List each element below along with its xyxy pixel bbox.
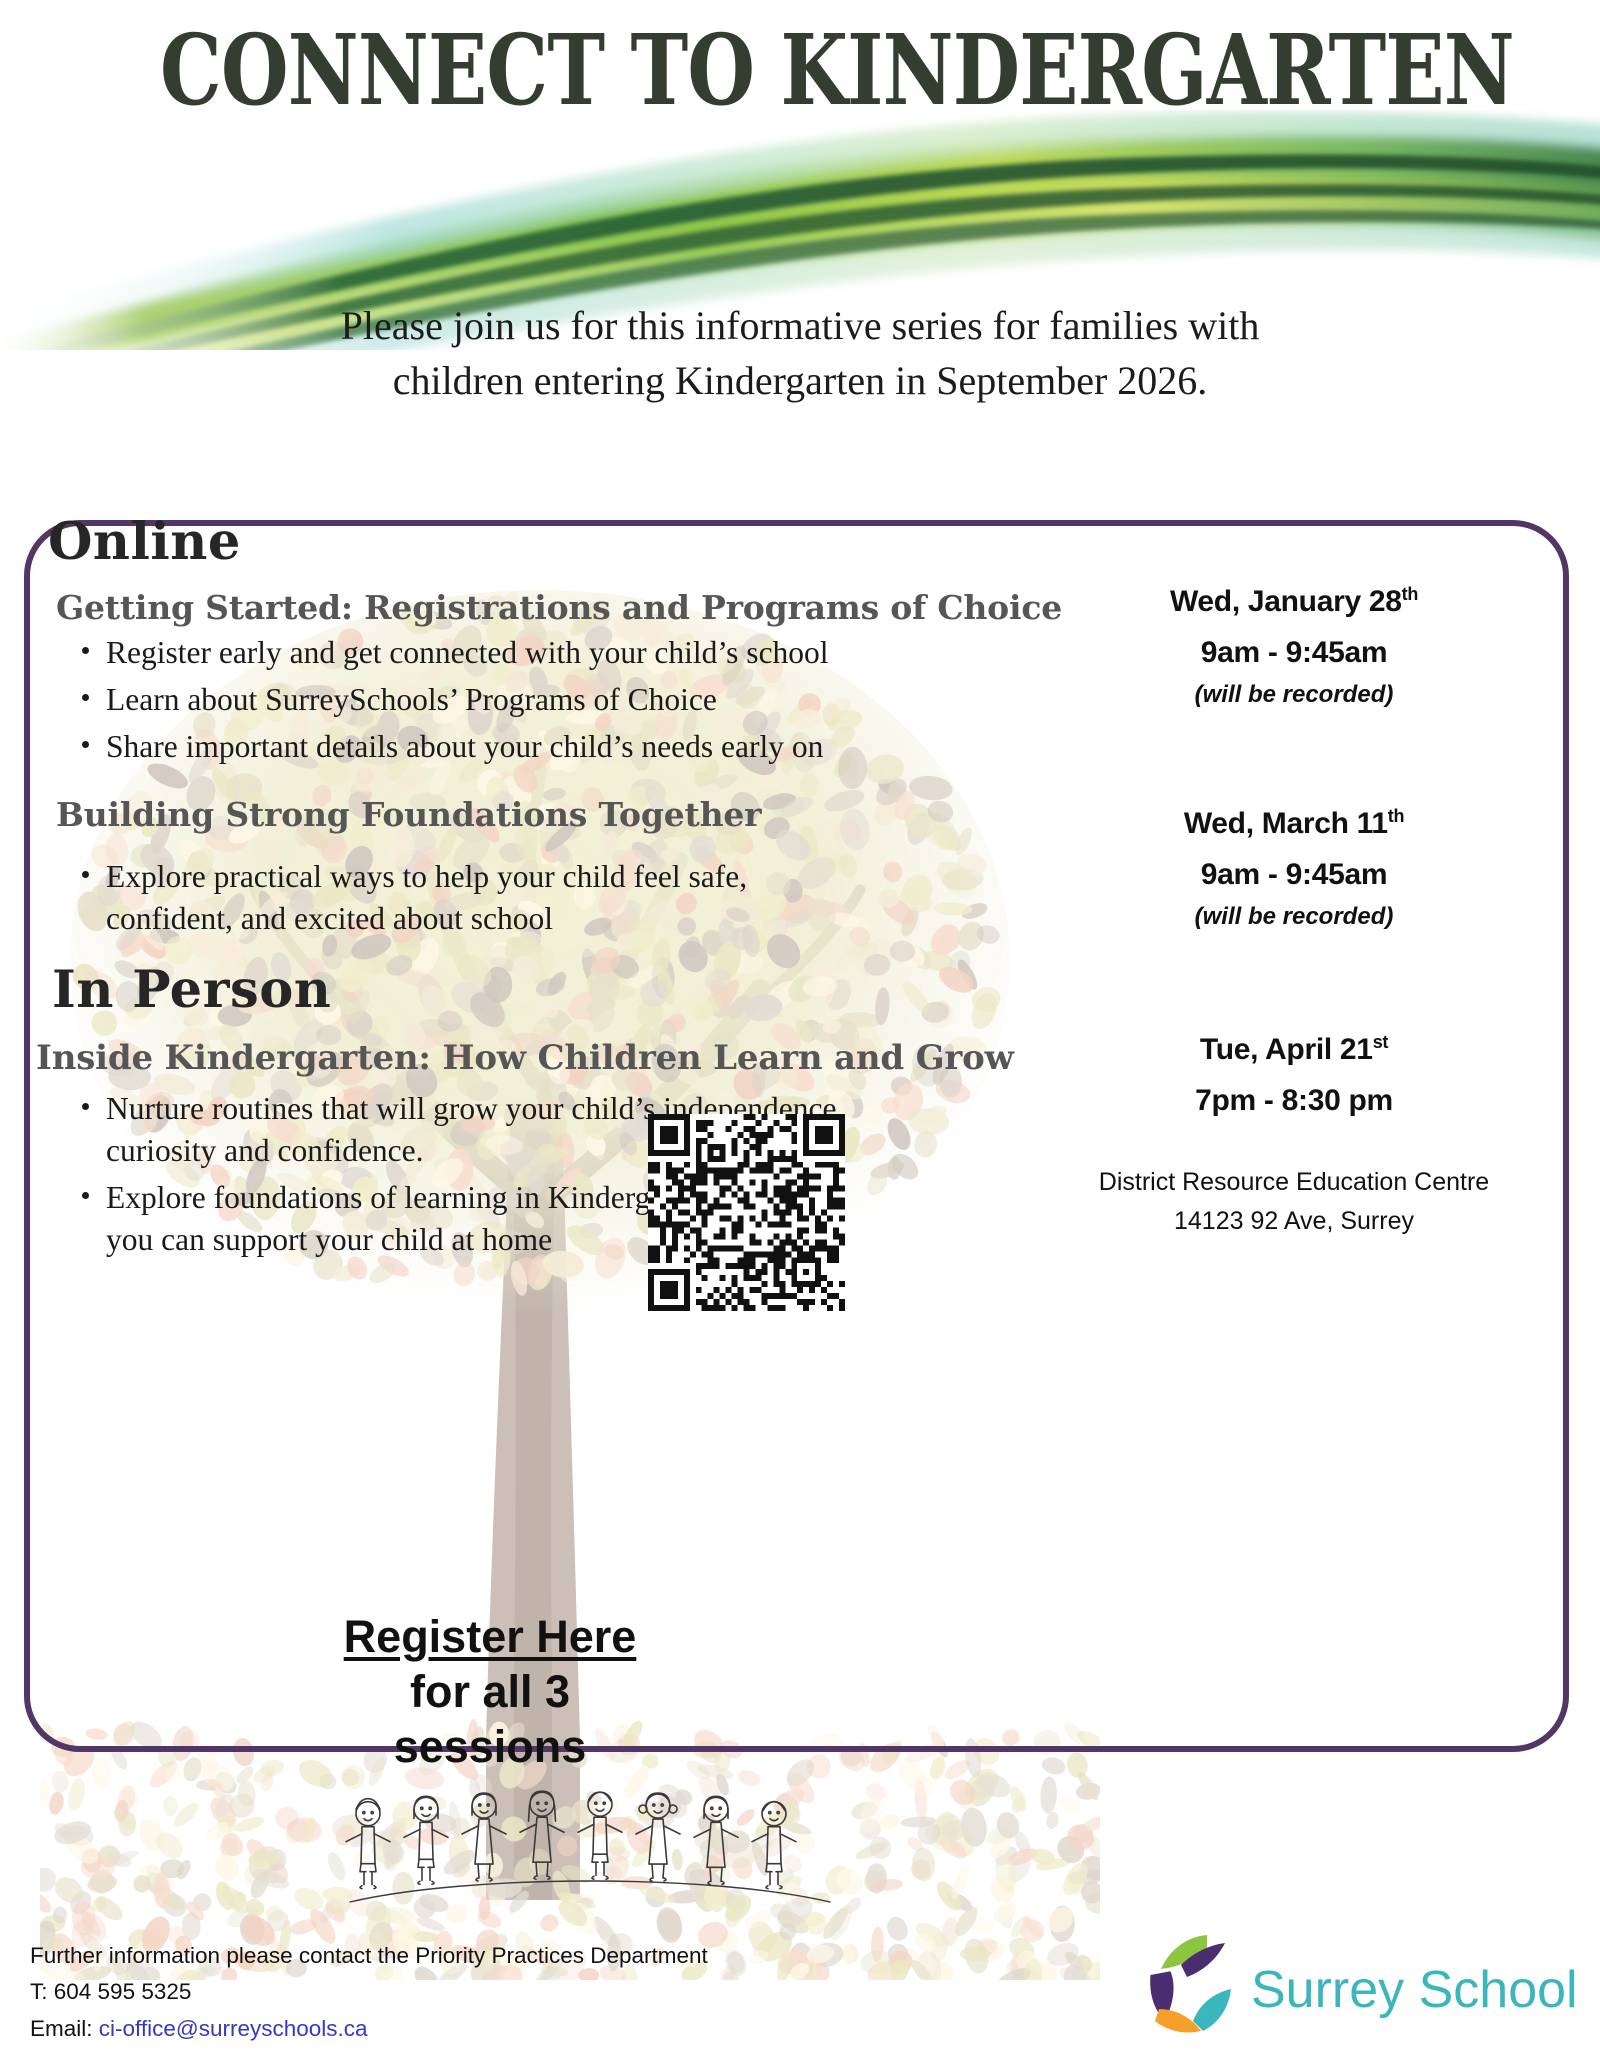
footer-email-label: Email:: [30, 2016, 93, 2041]
mode-heading-online: Online: [48, 512, 241, 572]
page-title: CONNECT TO KINDERGARTEN: [160, 22, 1440, 119]
register-here-link[interactable]: Register Here: [330, 1610, 650, 1665]
subtitle-line-1: Please join us for this informative seri…: [160, 298, 1440, 353]
session-1-bullets: Register early and get connected with yo…: [72, 632, 862, 773]
subtitle-line-2: children entering Kindergarten in Septem…: [160, 353, 1440, 408]
session-2-note: (will be recorded): [1084, 903, 1504, 931]
session-3-heading: Inside Kindergarten: How Children Learn …: [36, 1038, 1014, 1078]
session-1-heading: Getting Started: Registrations and Progr…: [56, 588, 1062, 627]
session-2-heading: Building Strong Foundations Together: [56, 795, 761, 834]
register-line-3: sessions: [330, 1720, 650, 1775]
footer-line-1: Further information please contact the P…: [30, 1938, 708, 1974]
children-holding-hands-illustration: [330, 1770, 850, 1915]
footer-email-row: Email: ci-office@surreyschools.ca: [30, 2011, 708, 2047]
surrey-schools-logo: Surrey Schools: [1145, 1925, 1575, 2045]
logo-pinwheel-icon: [1145, 1935, 1231, 2033]
list-item: Explore practical ways to help your chil…: [72, 856, 752, 940]
qr-code-icon[interactable]: [648, 1114, 845, 1311]
session-1-time: 9am - 9:45am: [1084, 636, 1504, 670]
session-3-time: 7pm - 8:30 pm: [1084, 1084, 1504, 1118]
page-subtitle: Please join us for this informative seri…: [160, 298, 1440, 408]
session-2-date-block: Wed, March 11th 9am - 9:45am (will be re…: [1084, 806, 1504, 931]
list-item: Share important details about your child…: [72, 726, 862, 768]
register-line-2: for all 3: [330, 1665, 650, 1720]
session-1-note: (will be recorded): [1084, 681, 1504, 709]
session-3-location-line-2: 14123 92 Ave, Surrey: [1084, 1207, 1504, 1236]
session-3-location-line-1: District Resource Education Centre: [1084, 1168, 1504, 1197]
footer-email-link[interactable]: ci-office@surreyschools.ca: [99, 2016, 368, 2041]
session-1-date: Wed, January 28th: [1084, 584, 1504, 619]
logo-text: Surrey Schools: [1251, 1961, 1575, 2019]
session-3-date-block: Tue, April 21st 7pm - 8:30 pm District R…: [1084, 1032, 1504, 1236]
session-3-date: Tue, April 21st: [1084, 1032, 1504, 1067]
session-2-time: 9am - 9:45am: [1084, 858, 1504, 892]
footer-contact: Further information please contact the P…: [30, 1938, 708, 2047]
session-1-date-block: Wed, January 28th 9am - 9:45am (will be …: [1084, 584, 1504, 709]
register-block: Register Here for all 3 sessions: [330, 1610, 650, 1775]
list-item: Learn about SurreySchools’ Programs of C…: [72, 679, 862, 721]
footer-phone: T: 604 595 5325: [30, 1974, 708, 2010]
session-2-date: Wed, March 11th: [1084, 806, 1504, 841]
session-2-bullets: Explore practical ways to help your chil…: [72, 856, 752, 945]
mode-heading-in-person: In Person: [52, 960, 331, 1020]
list-item: Register early and get connected with yo…: [72, 632, 862, 674]
